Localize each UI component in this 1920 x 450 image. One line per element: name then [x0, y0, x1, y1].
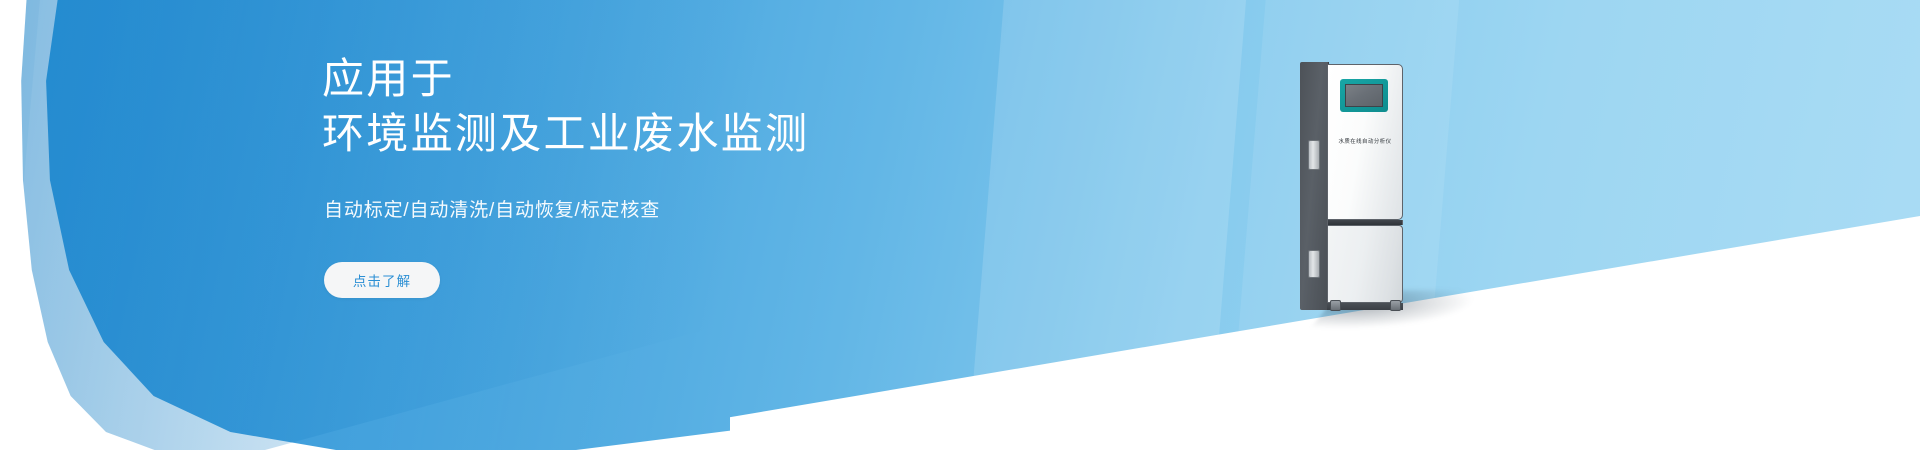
page-title: 应用于环境监测及工业废水监测 — [322, 52, 1042, 161]
display-screen-glass — [1345, 84, 1383, 107]
banner-subtitle: 自动标定/自动清洗/自动恢复/标定核查 — [324, 195, 1042, 222]
banner-copy: 应用于环境监测及工业废水监测 自动标定/自动清洗/自动恢复/标定核查 点击了解 — [322, 52, 1042, 298]
headline-line-1: 应用于 — [322, 55, 455, 102]
learn-more-button[interactable]: 点击了解 — [324, 262, 440, 298]
cabinet-handle-lower-icon — [1308, 250, 1320, 278]
hero-banner: 应用于环境监测及工业废水监测 自动标定/自动清洗/自动恢复/标定核查 点击了解 … — [0, 0, 1920, 450]
product-label: 水质在线自动分析仪 — [1328, 137, 1402, 145]
product-image: 水质在线自动分析仪 — [1300, 62, 1490, 322]
headline-line-2: 环境监测及工业废水监测 — [322, 107, 1042, 162]
cabinet-upper-door: 水质在线自动分析仪 — [1327, 64, 1403, 220]
cabinet-handle-upper-icon — [1308, 140, 1320, 170]
cabinet-lower-door — [1327, 225, 1403, 303]
caster-left-icon — [1330, 300, 1341, 311]
cabinet-side-panel — [1300, 62, 1329, 310]
display-screen — [1340, 79, 1388, 112]
caster-right-icon — [1390, 300, 1401, 311]
water-quality-analyzer: 水质在线自动分析仪 — [1300, 62, 1404, 310]
